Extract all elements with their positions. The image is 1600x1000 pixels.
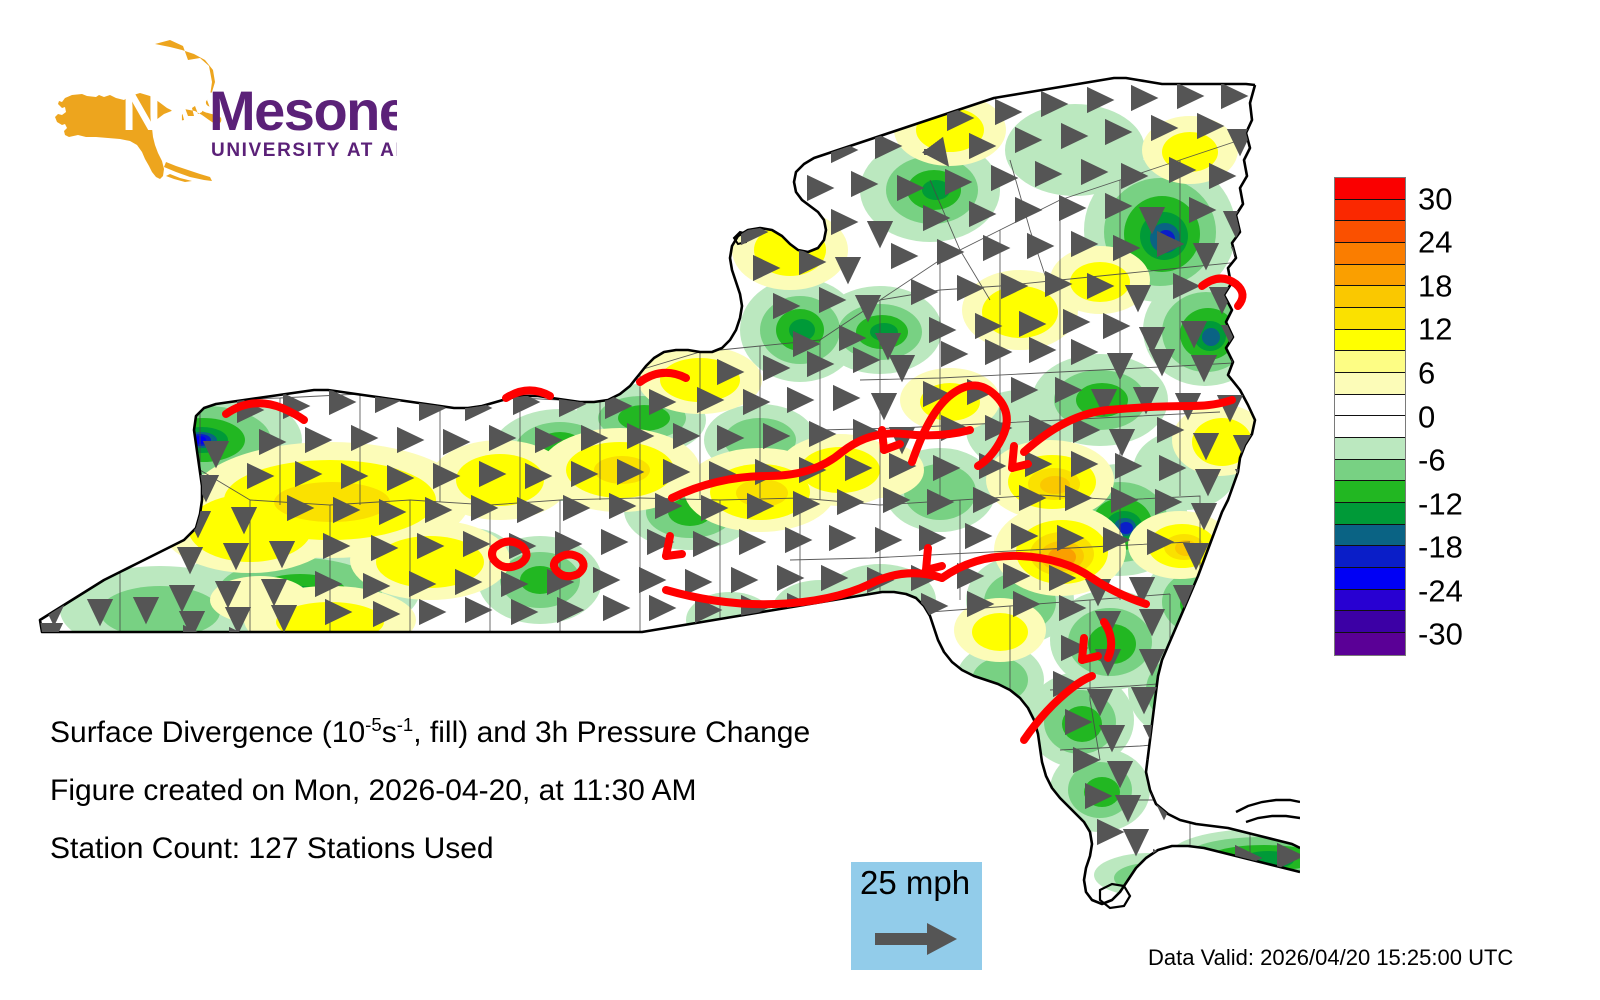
station-count-line: Station Count: 127 Stations Used xyxy=(50,834,950,864)
colorbar-band xyxy=(1335,243,1405,265)
colorbar-band xyxy=(1335,395,1405,417)
colorbar-band xyxy=(1335,308,1405,330)
colorbar-tick-label: 6 xyxy=(1418,357,1435,388)
colorbar-tick-label: 24 xyxy=(1418,227,1452,258)
figure-title-post: , fill) and 3h Pressure Change xyxy=(413,716,810,749)
colorbar-band xyxy=(1335,481,1405,503)
colorbar-band xyxy=(1335,568,1405,590)
colorbar-band xyxy=(1335,590,1405,612)
colorbar-band xyxy=(1335,330,1405,352)
colorbar-tick-label: 12 xyxy=(1418,314,1452,345)
wind-scale-label: 25 mph xyxy=(860,865,970,901)
colorbar-band xyxy=(1335,373,1405,395)
colorbar-band xyxy=(1335,351,1405,373)
colorbar-tick-label: -6 xyxy=(1418,445,1446,476)
colorbar-band xyxy=(1335,416,1405,438)
colorbar-band xyxy=(1335,546,1405,568)
figure-created-line: Figure created on Mon, 2026-04-20, at 11… xyxy=(50,776,950,806)
data-valid-timestamp: Data Valid: 2026/04/20 15:25:00 UTC xyxy=(1148,947,1513,969)
colorbar-band xyxy=(1335,286,1405,308)
colorbar-band xyxy=(1335,221,1405,243)
colorbar-tick-labels: 3024181260-6-12-18-24-30 xyxy=(1418,177,1508,656)
right-arrow-icon xyxy=(875,922,959,961)
colorbar-tick-label: -24 xyxy=(1418,575,1463,606)
figure-title: Surface Divergence (10-5s-1, fill) and 3… xyxy=(50,718,950,748)
colorbar-band xyxy=(1335,200,1405,222)
colorbar-tick-label: -30 xyxy=(1418,619,1463,650)
figure-title-pre: Surface Divergence (10 xyxy=(50,716,365,749)
colorbar-band xyxy=(1335,265,1405,287)
figure-title-exponent-1: -5 xyxy=(365,714,382,735)
colorbar-band xyxy=(1335,438,1405,460)
colorbar-band xyxy=(1335,460,1405,482)
colorbar-tick-label: -12 xyxy=(1418,488,1463,519)
divergence-colorbar xyxy=(1334,177,1406,656)
colorbar-band xyxy=(1335,633,1405,655)
figure-title-exponent-2: -1 xyxy=(397,714,414,735)
figure-title-mid: s xyxy=(382,716,397,749)
colorbar-tick-label: -18 xyxy=(1418,532,1463,563)
colorbar-band xyxy=(1335,503,1405,525)
colorbar-band xyxy=(1335,525,1405,547)
colorbar-band xyxy=(1335,611,1405,633)
colorbar-band xyxy=(1335,178,1405,200)
caption-block: Surface Divergence (10-5s-1, fill) and 3… xyxy=(50,718,950,892)
colorbar-tick-label: 18 xyxy=(1418,270,1452,301)
wind-scale-legend: 25 mph xyxy=(851,862,982,970)
colorbar-tick-label: 30 xyxy=(1418,183,1452,214)
colorbar-tick-label: 0 xyxy=(1418,401,1435,432)
